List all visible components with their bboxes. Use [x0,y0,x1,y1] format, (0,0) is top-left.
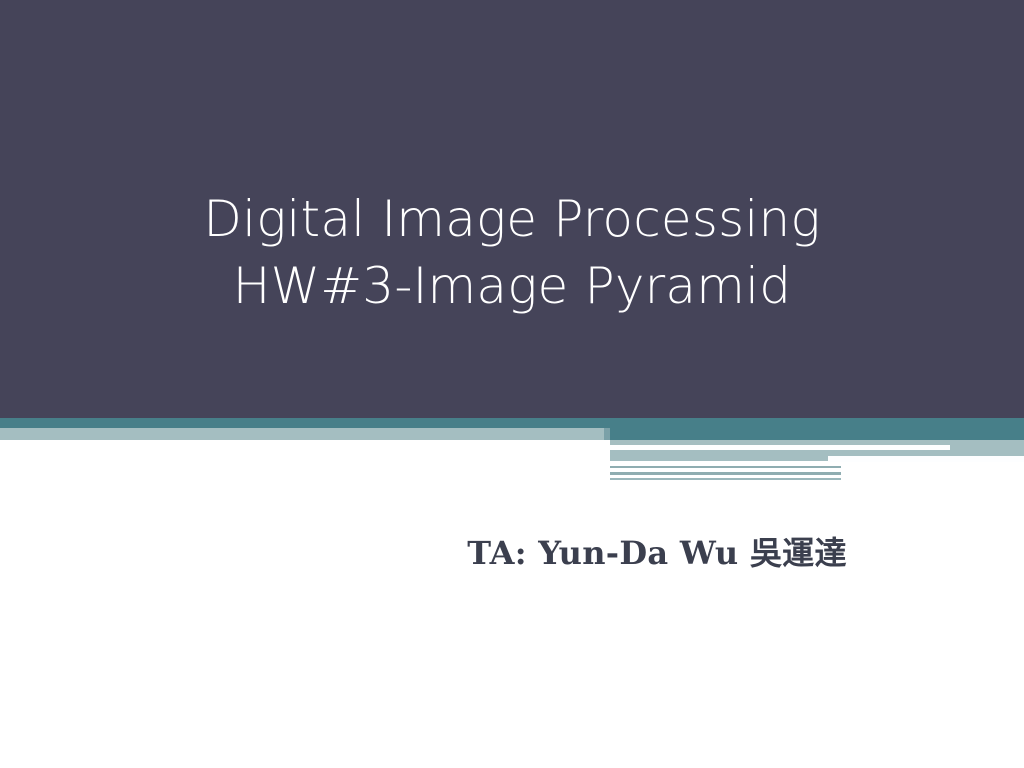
subtitle-text: TA: Yun-Da Wu 吳運達 [467,533,847,573]
band-teal-right-bar [610,428,1024,440]
decorative-band [0,418,1024,488]
band-thin-line-1 [610,466,841,468]
band-tick-mark [604,428,610,440]
title-line-2: HW#3-Image Pyramid [60,253,964,320]
band-notch-2 [828,456,1024,462]
title-slide: Digital Image Processing HW#3-Image Pyra… [0,0,1024,768]
title-line-1: Digital Image Processing [60,186,964,253]
band-light-left-bar [0,428,610,440]
band-teal-full-bar [0,418,1024,428]
band-thin-line-3 [610,478,841,480]
band-thin-line-2 [610,472,841,475]
subtitle-container: TA: Yun-Da Wu 吳運達 [0,533,1024,573]
page-title: Digital Image Processing HW#3-Image Pyra… [0,186,1024,320]
